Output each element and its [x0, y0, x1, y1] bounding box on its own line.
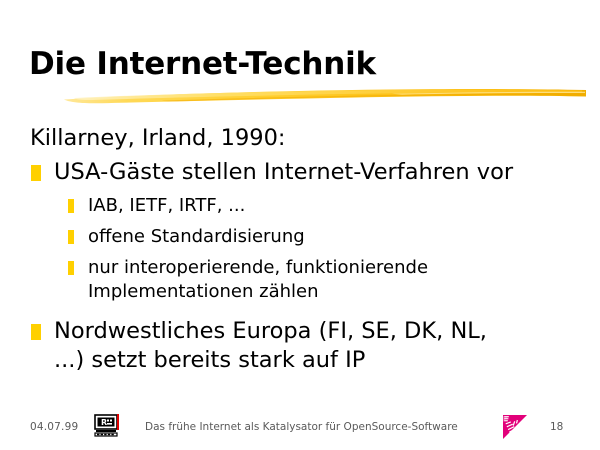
bullet-label: IAB, IETF, IRTF, ...	[88, 195, 245, 216]
brush-stroke-svg	[62, 83, 589, 109]
bullet-label: Nordwestliches Europa (FI, SE, DK, NL, .…	[54, 318, 487, 373]
bullet-level2: USA-Gäste stellen Internet-Verfahren vor	[31, 158, 524, 187]
bullet-label: nur interoperierende, funktionierende Im…	[88, 257, 428, 302]
square-bullet-icon	[31, 324, 41, 340]
page-title: Die Internet-Technik	[29, 47, 376, 81]
intro-line: Killarney, Irland, 1990:	[30, 124, 600, 153]
magenta-arrow-logo	[500, 413, 530, 441]
bullet-level3: nur interoperierende, funktionierende Im…	[68, 256, 508, 304]
magenta-arrow-logo-svg	[500, 413, 530, 441]
slide-body: Killarney, Irland, 1990: USA-Gäste stell…	[0, 124, 600, 375]
svg-text:R: R	[101, 418, 107, 427]
bar-bullet-icon	[68, 230, 74, 244]
slide-footer: 04.07.99 R Das frühe Internet als Kataly…	[0, 418, 600, 444]
footer-date: 04.07.99	[30, 421, 78, 433]
square-bullet-icon	[31, 165, 41, 181]
bullet-level3: IAB, IETF, IRTF, ...	[68, 194, 508, 218]
bullet-label: USA-Gäste stellen Internet-Verfahren vor	[54, 159, 513, 185]
footer-title: Das frühe Internet als Katalysator für O…	[145, 421, 458, 433]
footer-page-number: 18	[550, 421, 563, 433]
bar-bullet-icon	[68, 199, 74, 213]
bar-bullet-icon	[68, 261, 74, 275]
brush-stroke-underline	[62, 83, 589, 109]
slide: Die Internet-Technik	[0, 0, 600, 450]
bullet-label: offene Standardisierung	[88, 226, 305, 247]
bullet-level2: Nordwestliches Europa (FI, SE, DK, NL, .…	[31, 317, 524, 375]
computer-monitor-icon: R	[93, 414, 121, 438]
computer-monitor-svg: R	[93, 414, 121, 438]
bullet-level3: offene Standardisierung	[68, 225, 508, 249]
